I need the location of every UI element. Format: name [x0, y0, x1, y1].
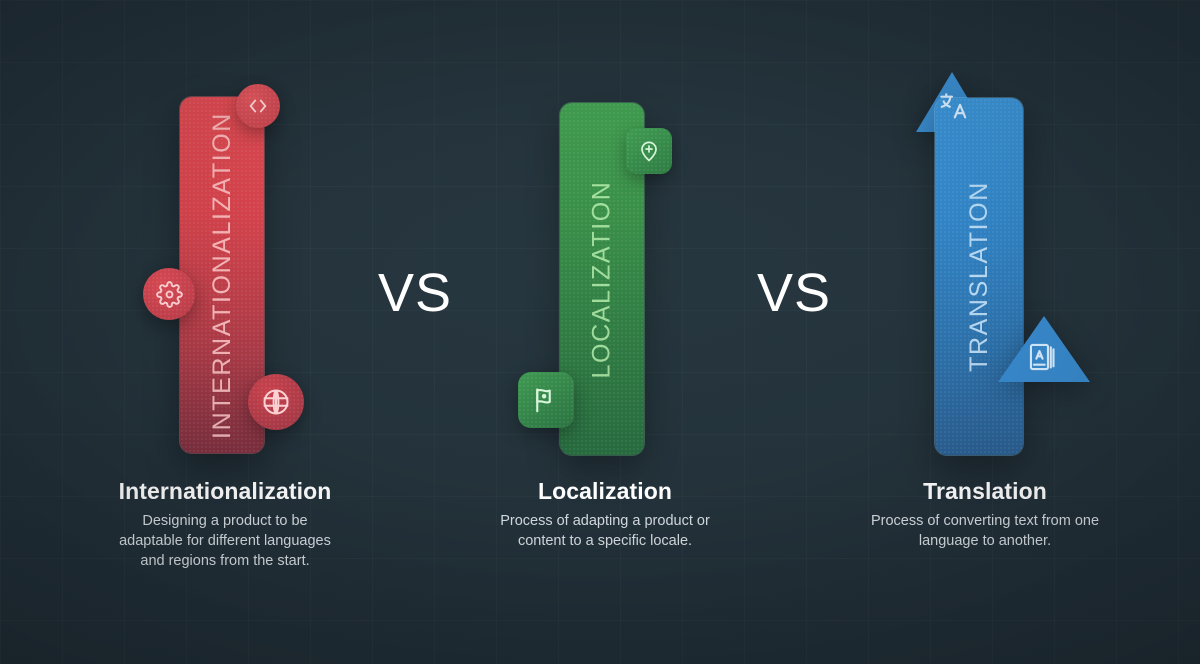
vertical-label-wrapper: TRANSLATION	[935, 98, 1023, 455]
column-localization: LOCALIZATION Localiz	[440, 0, 770, 664]
badge-translate[interactable]	[938, 90, 970, 122]
bar-wrapper-translation: TRANSLATION	[820, 0, 1150, 470]
bar-wrapper-localization: LOCALIZATION	[440, 0, 770, 470]
globe-icon	[261, 387, 291, 417]
title-localization: Localization	[440, 478, 770, 505]
caption-localization: Localization Process of adapting a produ…	[440, 478, 770, 551]
code-icon	[247, 95, 269, 117]
description-translation: Process of converting text from one lang…	[870, 511, 1100, 551]
dictionary-book-icon	[1026, 340, 1060, 374]
separator-vs-1: VS	[378, 262, 452, 324]
infographic-canvas: INTERNATIONALIZATION	[0, 0, 1200, 664]
column-internationalization: INTERNATIONALIZATION	[60, 0, 390, 664]
vertical-label-translation: TRANSLATION	[965, 181, 994, 372]
title-translation: Translation	[820, 478, 1150, 505]
vertical-label-internationalization: INTERNATIONALIZATION	[208, 112, 237, 439]
badge-map-pin[interactable]	[626, 128, 672, 174]
badge-gear[interactable]	[143, 268, 195, 320]
flag-icon	[531, 385, 561, 415]
badge-flag[interactable]	[518, 372, 574, 428]
bar-translation[interactable]: TRANSLATION	[935, 98, 1023, 455]
caption-translation: Translation Process of converting text f…	[820, 478, 1150, 551]
caption-internationalization: Internationalization Designing a product…	[60, 478, 390, 571]
map-pin-icon	[637, 139, 661, 163]
badge-dictionary[interactable]	[1026, 340, 1060, 374]
vertical-label-localization: LOCALIZATION	[588, 180, 617, 378]
badge-code[interactable]	[236, 84, 280, 128]
description-internationalization: Designing a product to be adaptable for …	[110, 511, 340, 571]
gear-icon	[156, 281, 183, 308]
description-localization: Process of adapting a product or content…	[490, 511, 720, 551]
badge-globe[interactable]	[248, 374, 304, 430]
separator-vs-2: VS	[757, 262, 831, 324]
column-translation: TRANSLATION	[820, 0, 1150, 664]
bar-wrapper-internationalization: INTERNATIONALIZATION	[60, 0, 390, 470]
translate-icon	[938, 90, 970, 122]
title-internationalization: Internationalization	[60, 478, 390, 505]
